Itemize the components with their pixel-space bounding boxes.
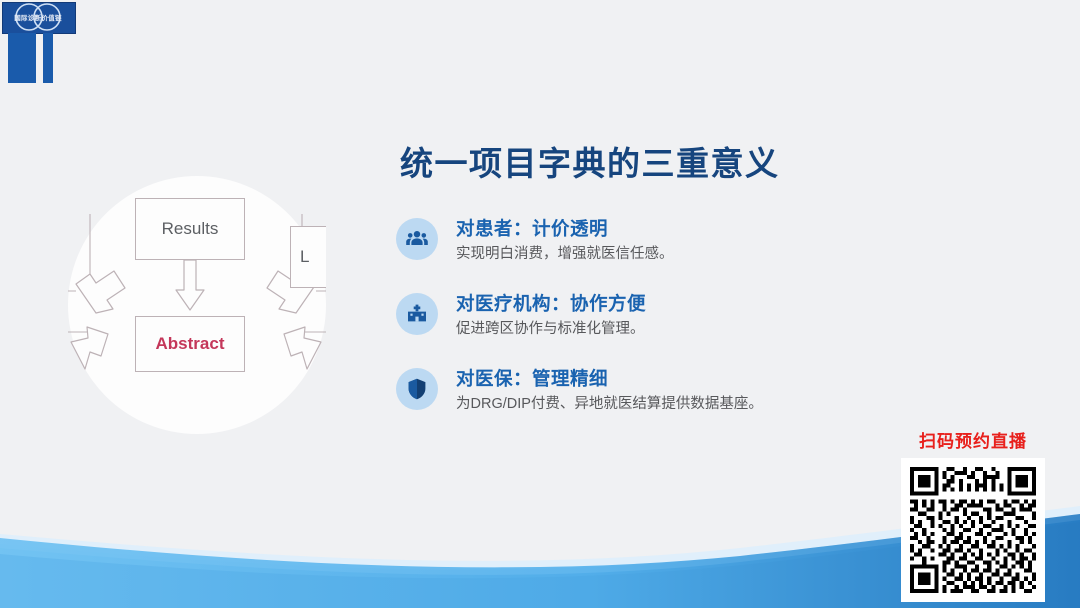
results-abstract-diagram: Results Abstract L [68,176,330,434]
qr-code-icon[interactable] [901,458,1045,602]
brand-bar-thin [43,33,53,83]
benefit-item-insurance: 对医保：管理精细 为DRG/DIP付费、异地就医结算提供数据基座。 [396,366,1036,415]
diagram-box-right-label: L [300,247,309,267]
benefit-text-patients: 对患者：计价透明 实现明白消费，增强就医信任感。 [456,216,674,265]
brand-logo-text: 国际诊断价值链 [2,2,74,32]
shield-icon [396,368,438,410]
qr-promo-block: 扫码预约直播 [898,427,1048,602]
hospital-building-icon [396,293,438,335]
benefit-description: 实现明白消费，增强就医信任感。 [456,245,674,265]
qr-code-matrix [906,463,1040,597]
benefit-description: 促进跨区协作与标准化管理。 [456,320,646,340]
brand-bar-wide [8,33,36,83]
brand-logo: 国际诊断价值链 [0,0,90,90]
benefit-heading: 对医疗机构：协作方便 [456,292,646,315]
diagram-box-abstract-label: Abstract [156,334,225,354]
slide-canvas: 国际诊断价值链 [0,0,1080,608]
page-title: 统一项目字典的三重意义 [400,146,1036,182]
qr-caption: 扫码预约直播 [898,427,1048,452]
diagram-box-results-label: Results [162,219,219,239]
benefit-text-institutions: 对医疗机构：协作方便 促进跨区协作与标准化管理。 [456,291,646,340]
benefit-heading: 对患者：计价透明 [456,217,674,240]
content-panel: 统一项目字典的三重意义 对患者：计价透明 实现明白消费，增强就医信任感。 [396,146,1036,440]
diagram-box-abstract: Abstract [135,316,245,372]
benefit-heading: 对医保：管理精细 [456,367,763,390]
people-group-icon [396,218,438,260]
diagram-box-results: Results [135,198,245,260]
benefit-description: 为DRG/DIP付费、异地就医结算提供数据基座。 [456,395,763,415]
benefit-item-institutions: 对医疗机构：协作方便 促进跨区协作与标准化管理。 [396,291,1036,340]
benefit-text-insurance: 对医保：管理精细 为DRG/DIP付费、异地就医结算提供数据基座。 [456,366,763,415]
benefit-item-patients: 对患者：计价透明 实现明白消费，增强就医信任感。 [396,216,1036,265]
